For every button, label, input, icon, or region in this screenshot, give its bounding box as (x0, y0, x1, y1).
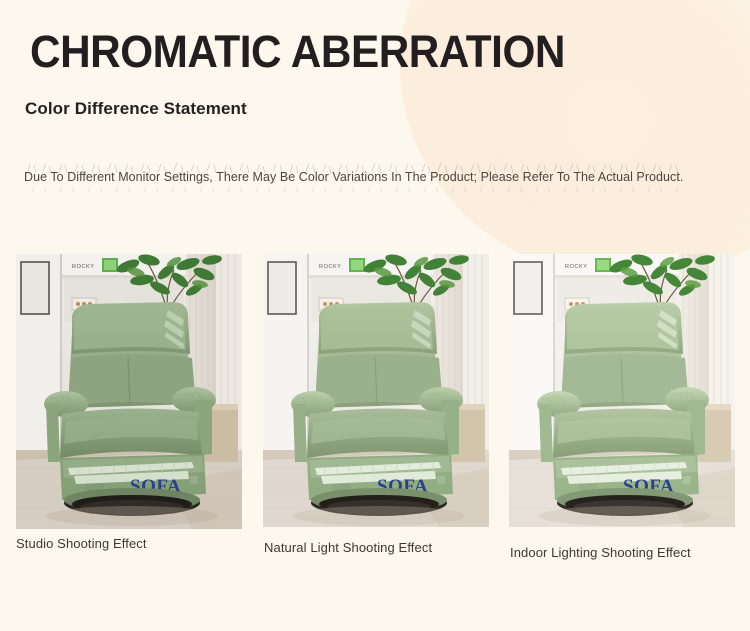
product-photo-studio-svg: ROCKY (16, 254, 242, 529)
svg-text:ROCKY: ROCKY (72, 264, 95, 270)
color-variation-statement: Due To Different Monitor Settings, There… (24, 170, 683, 184)
svg-text:ROCKY: ROCKY (319, 264, 342, 270)
svg-text:ROCKY: ROCKY (565, 264, 588, 270)
caption-studio: Studio Shooting Effect (16, 535, 216, 552)
statement-block: Due To Different Monitor Settings, There… (24, 160, 724, 198)
product-photo-indoor-lighting[interactable]: ROCKY (509, 254, 735, 527)
caption-natural-light: Natural Light Shooting Effect (264, 539, 474, 556)
product-photo-studio[interactable]: ROCKY (16, 254, 242, 529)
caption-indoor-lighting: Indoor Lighting Shooting Effect (510, 544, 740, 561)
product-photo-natural-light-svg: ROCKY (263, 254, 489, 527)
product-photo-natural-light[interactable]: ROCKY (263, 254, 489, 527)
product-photo-indoor-lighting-svg: ROCKY (509, 254, 735, 527)
page-root: CHROMATIC ABERRATION Color Difference St… (0, 0, 750, 631)
page-subtitle: Color Difference Statement (25, 99, 247, 119)
page-title: CHROMATIC ABERRATION (30, 26, 565, 78)
